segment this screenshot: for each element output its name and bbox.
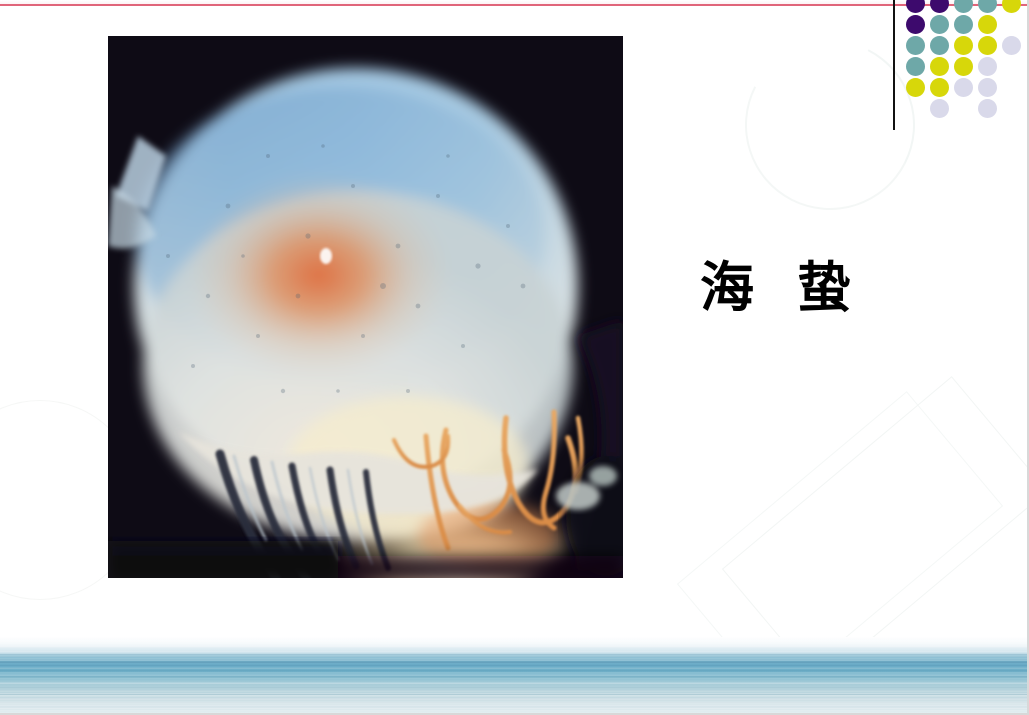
ocean-wave-line bbox=[0, 700, 1029, 701]
ocean-wave-line bbox=[0, 710, 1029, 711]
ocean-wave-line bbox=[0, 668, 1029, 669]
ocean-wave-line bbox=[0, 683, 1029, 684]
slide-canvas: 海 蛰 bbox=[0, 0, 1029, 715]
ocean-wave-line bbox=[0, 670, 1029, 671]
ocean-wave-line bbox=[0, 676, 1029, 677]
ocean-wave-line bbox=[0, 661, 1029, 662]
decorative-dot-yellow bbox=[906, 78, 925, 97]
ocean-wave-line bbox=[0, 653, 1029, 654]
jellyfish-photo bbox=[108, 36, 623, 578]
decorative-dot-lavender bbox=[978, 78, 997, 97]
decorative-dot-lavender bbox=[930, 99, 949, 118]
decorative-dot-teal bbox=[906, 36, 925, 55]
top-accent-rule bbox=[0, 4, 1029, 6]
ocean-wave-line bbox=[0, 643, 1029, 644]
ocean-wave-line bbox=[0, 646, 1029, 647]
ocean-wave-line bbox=[0, 673, 1029, 674]
decorative-dot-grid bbox=[906, 0, 1026, 114]
decorative-dot-lavender bbox=[1002, 36, 1021, 55]
ocean-wave-line bbox=[0, 687, 1029, 688]
ocean-wave-line bbox=[0, 695, 1029, 696]
ocean-wave-line bbox=[0, 698, 1029, 699]
ocean-wave-line bbox=[0, 660, 1029, 661]
decorative-dot-lavender bbox=[978, 57, 997, 76]
decorative-dot-purple bbox=[906, 15, 925, 34]
ocean-wave-line bbox=[0, 651, 1029, 652]
decorative-dot-teal bbox=[906, 57, 925, 76]
ocean-wave-line bbox=[0, 642, 1029, 643]
ocean-wave-line bbox=[0, 696, 1029, 697]
ocean-wave-line bbox=[0, 662, 1029, 663]
vertical-divider-line bbox=[893, 0, 895, 130]
decorative-dot-purple bbox=[930, 0, 949, 13]
ocean-wave-line bbox=[0, 690, 1029, 691]
ocean-wave-line bbox=[0, 691, 1029, 692]
ocean-wave-line bbox=[0, 638, 1029, 639]
decorative-dot-purple bbox=[906, 0, 925, 13]
ocean-wave-lines bbox=[0, 637, 1029, 713]
ocean-wave-line bbox=[0, 665, 1029, 666]
decorative-dot-lavender bbox=[978, 99, 997, 118]
ocean-wave-line bbox=[0, 678, 1029, 679]
decorative-dot-yellow bbox=[978, 15, 997, 34]
ocean-wave-line bbox=[0, 674, 1029, 675]
decorative-dot-teal bbox=[930, 15, 949, 34]
faint-arc-outline-watermark bbox=[723, 18, 937, 232]
decorative-dot-yellow bbox=[1002, 0, 1021, 13]
decorative-dot-yellow bbox=[930, 57, 949, 76]
jellyfish-illustration bbox=[108, 36, 623, 578]
decorative-dot-teal bbox=[978, 0, 997, 13]
ocean-wave-line bbox=[0, 705, 1029, 706]
decorative-dot-teal bbox=[930, 36, 949, 55]
decorative-dot-yellow bbox=[978, 36, 997, 55]
ocean-wave-line bbox=[0, 671, 1029, 672]
decorative-dot-yellow bbox=[954, 57, 973, 76]
ocean-water-strip bbox=[0, 637, 1029, 713]
decorative-dot-yellow bbox=[954, 36, 973, 55]
ocean-wave-line bbox=[0, 704, 1029, 705]
decorative-dot-teal bbox=[954, 0, 973, 13]
ocean-wave-line bbox=[0, 675, 1029, 676]
ocean-wave-line bbox=[0, 654, 1029, 655]
decorative-dot-yellow bbox=[930, 78, 949, 97]
ocean-wave-line bbox=[0, 656, 1029, 657]
page-title: 海 蛰 bbox=[700, 258, 1000, 317]
decorative-dot-teal bbox=[954, 15, 973, 34]
ocean-wave-line bbox=[0, 708, 1029, 709]
decorative-dot-lavender bbox=[954, 78, 973, 97]
ocean-wave-line bbox=[0, 641, 1029, 642]
